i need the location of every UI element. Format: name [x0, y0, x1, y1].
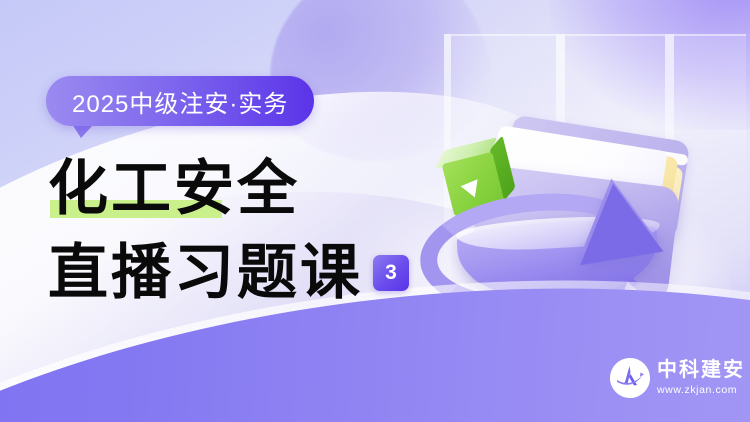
course-promo-banner: 2025中级注安·实务 化工安全 直播习题课 3 中科建安 www.zkjan.…: [0, 0, 750, 422]
brand-name: 中科建安: [657, 360, 745, 381]
episode-number-badge: 3: [373, 255, 409, 291]
zkjan-circle-logo-icon: [610, 358, 650, 398]
brand-logo: 中科建安 www.zkjan.com: [610, 358, 745, 398]
brand-url: www.zkjan.com: [657, 384, 745, 396]
course-title-line-1: 化工安全: [48, 159, 300, 219]
title-line-2-row: 直播习题课 3: [48, 236, 468, 310]
course-title-line-2: 直播习题课: [48, 243, 363, 303]
course-category-pill: 2025中级注安·实务: [46, 76, 314, 126]
title-block: 化工安全 直播习题课 3: [48, 152, 468, 310]
course-category-label: 2025中级注安·实务: [72, 84, 288, 119]
title-line-1-row: 化工安全: [48, 152, 468, 226]
pill-tail-decoration: [72, 124, 94, 138]
brand-logo-text: 中科建安 www.zkjan.com: [657, 360, 745, 396]
